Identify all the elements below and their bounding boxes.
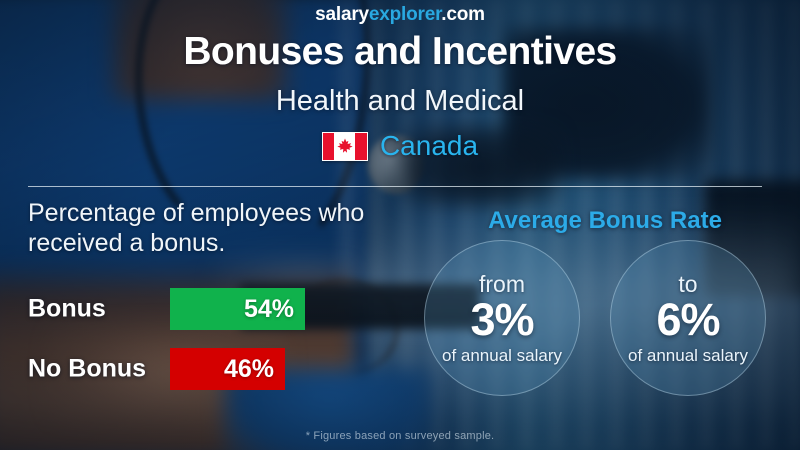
flag-band-right bbox=[355, 133, 367, 160]
bonus-bar-chart: Bonus 54% No Bonus 46% bbox=[28, 288, 428, 408]
circle-preposition-to: to bbox=[678, 271, 697, 297]
circle-preposition-from: from bbox=[479, 271, 525, 297]
footnote: * Figures based on surveyed sample. bbox=[0, 430, 800, 442]
bar-track-no-bonus: 46% bbox=[170, 348, 420, 390]
bar-label-bonus: Bonus bbox=[28, 295, 106, 324]
bar-track-bonus: 54% bbox=[170, 288, 420, 330]
circle-value-to: 6% bbox=[656, 295, 719, 345]
bonus-rate-circle-from: from 3% of annual salary bbox=[424, 240, 580, 396]
page-title: Bonuses and Incentives bbox=[0, 29, 800, 75]
bonus-rate-circle-to: to 6% of annual salary bbox=[610, 240, 766, 396]
infographic-root: salaryexplorer.com Bonuses and Incentive… bbox=[0, 0, 800, 450]
bar-value-no-bonus: 46% bbox=[224, 355, 274, 384]
bar-value-bonus: 54% bbox=[244, 295, 294, 324]
country-label: Canada bbox=[380, 130, 478, 162]
circle-caption-to: of annual salary bbox=[628, 346, 748, 366]
bar-fill-bonus: 54% bbox=[170, 288, 305, 330]
bar-row-bonus: Bonus 54% bbox=[28, 288, 428, 330]
canada-flag-icon bbox=[322, 132, 368, 161]
logo-text-suffix: .com bbox=[441, 4, 485, 25]
bar-label-no-bonus: No Bonus bbox=[28, 355, 146, 384]
page-subtitle: Health and Medical bbox=[0, 84, 800, 118]
logo-text-accent: explorer bbox=[369, 4, 441, 25]
site-logo[interactable]: salaryexplorer.com bbox=[0, 4, 800, 26]
average-bonus-rate-title: Average Bonus Rate bbox=[440, 207, 770, 235]
left-panel-lead-text: Percentage of employees who received a b… bbox=[28, 198, 448, 258]
maple-leaf-icon bbox=[336, 138, 353, 155]
bar-row-no-bonus: No Bonus 46% bbox=[28, 348, 428, 390]
bar-fill-no-bonus: 46% bbox=[170, 348, 285, 390]
circle-value-from: 3% bbox=[470, 295, 533, 345]
infographic-content: salaryexplorer.com Bonuses and Incentive… bbox=[0, 0, 800, 450]
section-divider bbox=[28, 186, 762, 187]
logo-text-primary: salary bbox=[315, 4, 369, 25]
country-row: Canada bbox=[0, 127, 800, 165]
circle-caption-from: of annual salary bbox=[442, 346, 562, 366]
bonus-rate-circles: from 3% of annual salary to 6% of annual… bbox=[418, 240, 774, 398]
flag-band-left bbox=[323, 133, 335, 160]
